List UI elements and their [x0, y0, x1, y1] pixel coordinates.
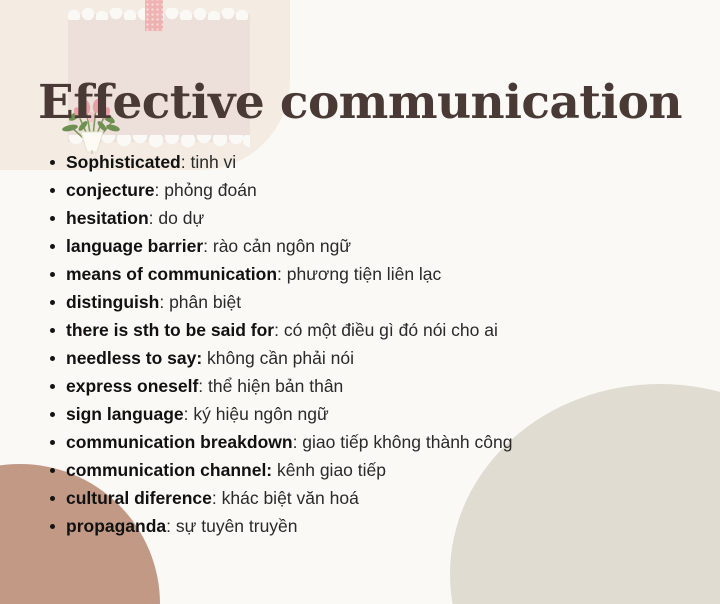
- vocab-term: needless to say:: [66, 348, 202, 368]
- vocab-term: there is sth to be said for: [66, 320, 274, 340]
- vocab-definition: không cần phải nói: [207, 348, 354, 368]
- vocab-definition: khác biệt văn hoá: [222, 488, 359, 508]
- vocab-separator: :: [198, 376, 208, 396]
- list-item: communication breakdown: giao tiếp không…: [44, 428, 704, 456]
- vocab-definition: rào cản ngôn ngữ: [213, 236, 351, 256]
- page-title: Effective communication: [38, 79, 682, 126]
- list-item: there is sth to be said for: có một điều…: [44, 316, 704, 344]
- list-item: sign language: ký hiệu ngôn ngữ: [44, 400, 704, 428]
- vocab-term: language barrier: [66, 236, 203, 256]
- vocab-definition: phương tiện liên lạc: [287, 264, 442, 284]
- bullet-icon: [50, 216, 55, 221]
- bullet-icon: [50, 356, 55, 361]
- bullet-icon: [50, 412, 55, 417]
- vocab-definition: thể hiện bản thân: [208, 376, 343, 396]
- bullet-icon: [50, 300, 55, 305]
- vocab-separator: :: [277, 264, 287, 284]
- washi-tape-icon: [145, 0, 163, 31]
- vocab-term: communication channel:: [66, 460, 272, 480]
- vocab-definition: giao tiếp không thành công: [302, 432, 512, 452]
- vocab-term: means of communication: [66, 264, 277, 284]
- list-item: conjecture: phỏng đoán: [44, 176, 704, 204]
- vocab-separator: :: [293, 432, 303, 452]
- vocab-definition: sự tuyên truyền: [176, 516, 298, 536]
- vocab-definition: tinh vi: [190, 152, 236, 172]
- bullet-icon: [50, 328, 55, 333]
- vocab-term: cultural diference: [66, 488, 212, 508]
- bullet-icon: [50, 440, 55, 445]
- vocab-definition: phân biệt: [169, 292, 241, 312]
- vocab-definition: ký hiệu ngôn ngữ: [193, 404, 328, 424]
- list-item: distinguish: phân biệt: [44, 288, 704, 316]
- vocab-separator: :: [166, 516, 176, 536]
- list-item: needless to say: không cần phải nói: [44, 344, 704, 372]
- bullet-icon: [50, 272, 55, 277]
- vocab-separator: :: [184, 404, 194, 424]
- vocab-separator: :: [274, 320, 284, 340]
- list-item: cultural diference: khác biệt văn hoá: [44, 484, 704, 512]
- bullet-icon: [50, 468, 55, 473]
- list-item: hesitation: do dự: [44, 204, 704, 232]
- list-item: communication channel: kênh giao tiếp: [44, 456, 704, 484]
- vocab-separator: :: [149, 208, 159, 228]
- vocab-separator: :: [155, 180, 165, 200]
- bullet-icon: [50, 524, 55, 529]
- vocab-term: propaganda: [66, 516, 166, 536]
- vocab-term: hesitation: [66, 208, 149, 228]
- vocab-definition: do dự: [158, 208, 204, 228]
- bullet-icon: [50, 188, 55, 193]
- vocab-definition: phỏng đoán: [164, 180, 256, 200]
- list-item: propaganda: sự tuyên truyền: [44, 512, 704, 540]
- list-item: Sophisticated: tinh vi: [44, 148, 704, 176]
- vocab-term: distinguish: [66, 292, 159, 312]
- slide-canvas: Effective communication Sophisticated: t…: [0, 0, 720, 604]
- vocab-term: communication breakdown: [66, 432, 293, 452]
- list-item: means of communication: phương tiện liên…: [44, 260, 704, 288]
- bullet-icon: [50, 496, 55, 501]
- vocab-separator: :: [159, 292, 169, 312]
- bullet-icon: [50, 160, 55, 165]
- vocab-term: conjecture: [66, 180, 155, 200]
- vocabulary-list: Sophisticated: tinh vi conjecture: phỏng…: [44, 148, 704, 540]
- vocab-definition: có một điều gì đó nói cho ai: [284, 320, 498, 340]
- vocab-term: express oneself: [66, 376, 198, 396]
- list-item: express oneself: thể hiện bản thân: [44, 372, 704, 400]
- vocab-separator: :: [212, 488, 222, 508]
- vocab-separator: :: [203, 236, 213, 256]
- vocab-definition: kênh giao tiếp: [277, 460, 386, 480]
- vocab-term: Sophisticated: [66, 152, 181, 172]
- vocab-term: sign language: [66, 404, 184, 424]
- bullet-icon: [50, 244, 55, 249]
- bullet-icon: [50, 384, 55, 389]
- list-item: language barrier: rào cản ngôn ngữ: [44, 232, 704, 260]
